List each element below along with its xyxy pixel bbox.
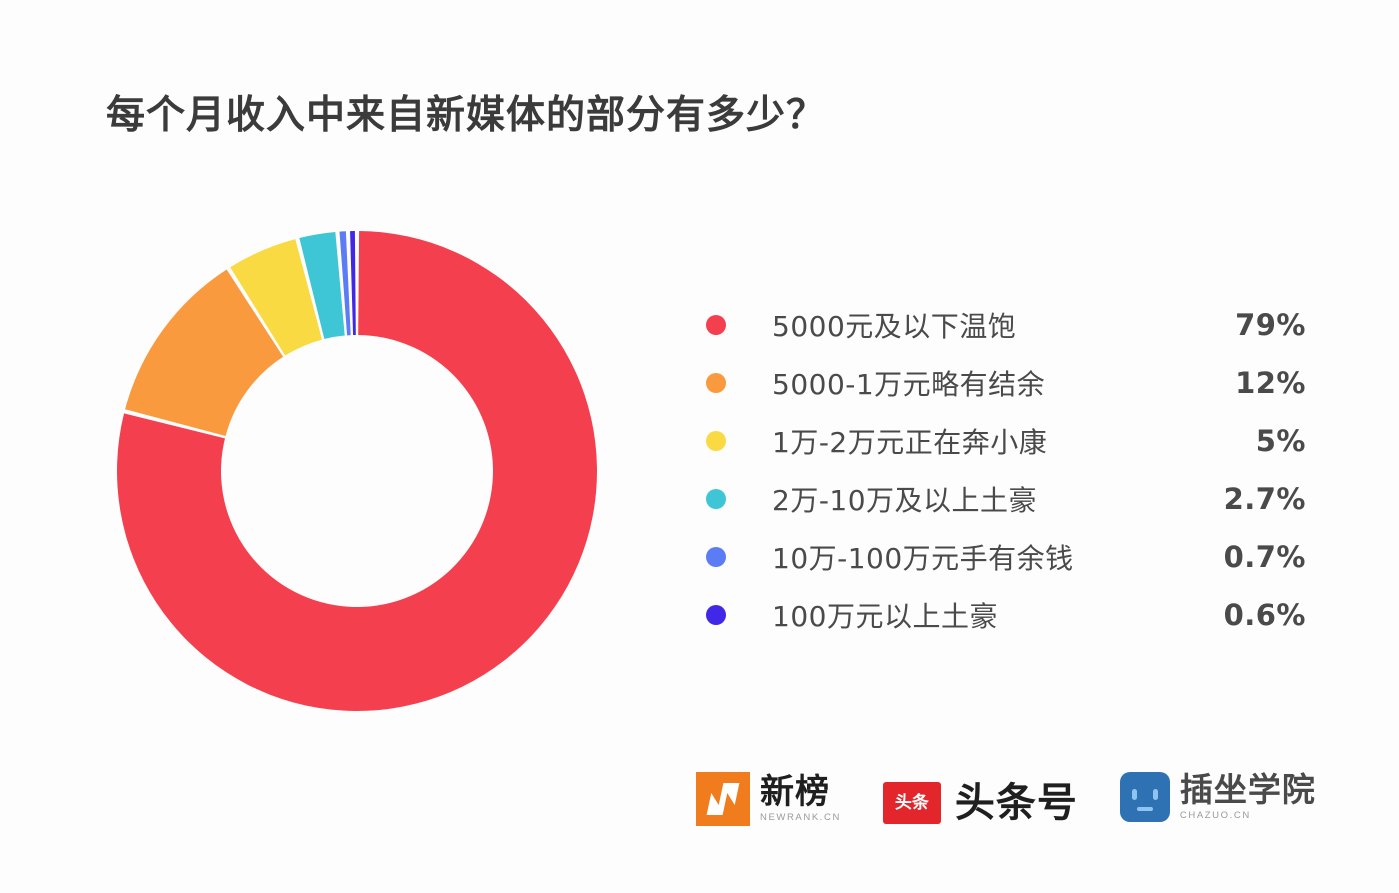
chazuo-mouth-icon [1137, 807, 1153, 811]
chart-legend: 5000元及以下温饱79%5000-1万元略有结余12%1万-2万元正在奔小康5… [706, 296, 1306, 644]
logo-chazuo: 插坐学院 CHAZUO.CN [1120, 772, 1316, 822]
newrank-name-en: NEWRANK.CN [760, 812, 841, 823]
chazuo-eye-left-icon [1132, 789, 1137, 800]
legend-swatch-icon [706, 605, 726, 625]
legend-swatch-icon [706, 547, 726, 567]
legend-swatch-icon [706, 489, 726, 509]
page-title: 每个月收入中来自新媒体的部分有多少？ [106, 84, 826, 140]
chazuo-face-icon [1120, 772, 1170, 822]
legend-swatch-icon [706, 373, 726, 393]
legend-item-value: 79% [1235, 308, 1306, 342]
footer-logo-row: 新榜 NEWRANK.CN 头条 头条号 插坐学院 CHAZUO.CN [696, 772, 1316, 834]
legend-item[interactable]: 5000-1万元略有结余12% [706, 354, 1306, 412]
toutiaohao-mark-icon: 头条 [883, 782, 941, 824]
donut-chart [112, 226, 602, 716]
legend-item-label: 5000元及以下温饱 [772, 305, 1016, 345]
legend-swatch-icon [706, 315, 726, 335]
legend-item-label: 2万-10万及以上土豪 [772, 479, 1037, 519]
legend-item-value: 2.7% [1224, 482, 1306, 516]
toutiaohao-name-cn: 头条号 [955, 783, 1078, 823]
legend-item-label: 10万-100万元手有余钱 [772, 537, 1074, 577]
donut-chart-svg [112, 226, 602, 716]
toutiaohao-mark-label: 头条 [895, 795, 929, 812]
legend-item-label: 1万-2万元正在奔小康 [772, 421, 1047, 461]
newrank-name-cn: 新榜 [760, 775, 841, 810]
chart-page: 每个月收入中来自新媒体的部分有多少？ 5000元及以下温饱79%5000-1万元… [0, 0, 1399, 893]
legend-item-value: 12% [1235, 366, 1306, 400]
donut-slice[interactable] [350, 231, 356, 335]
logo-toutiaohao: 头条 头条号 [883, 772, 1078, 834]
legend-item-value: 5% [1256, 424, 1306, 458]
legend-item[interactable]: 1万-2万元正在奔小康5% [706, 412, 1306, 470]
newrank-mark-icon [696, 772, 750, 826]
newrank-text: 新榜 NEWRANK.CN [760, 775, 841, 824]
chazuo-name-cn: 插坐学院 [1180, 773, 1316, 807]
legend-item-label: 100万元以上土豪 [772, 595, 998, 635]
legend-item-value: 0.7% [1224, 540, 1306, 574]
chazuo-text: 插坐学院 CHAZUO.CN [1180, 773, 1316, 821]
donut-slice-group [117, 231, 597, 711]
legend-item[interactable]: 5000元及以下温饱79% [706, 296, 1306, 354]
legend-item-value: 0.6% [1224, 598, 1306, 632]
logo-newrank: 新榜 NEWRANK.CN [696, 772, 841, 826]
newrank-zigzag-icon [705, 783, 742, 815]
legend-item[interactable]: 2万-10万及以上土豪2.7% [706, 470, 1306, 528]
legend-swatch-icon [706, 431, 726, 451]
chazuo-eye-right-icon [1153, 789, 1158, 800]
chazuo-name-en: CHAZUO.CN [1180, 810, 1316, 821]
legend-item[interactable]: 100万元以上土豪0.6% [706, 586, 1306, 644]
legend-item-label: 5000-1万元略有结余 [772, 363, 1045, 403]
legend-item[interactable]: 10万-100万元手有余钱0.7% [706, 528, 1306, 586]
